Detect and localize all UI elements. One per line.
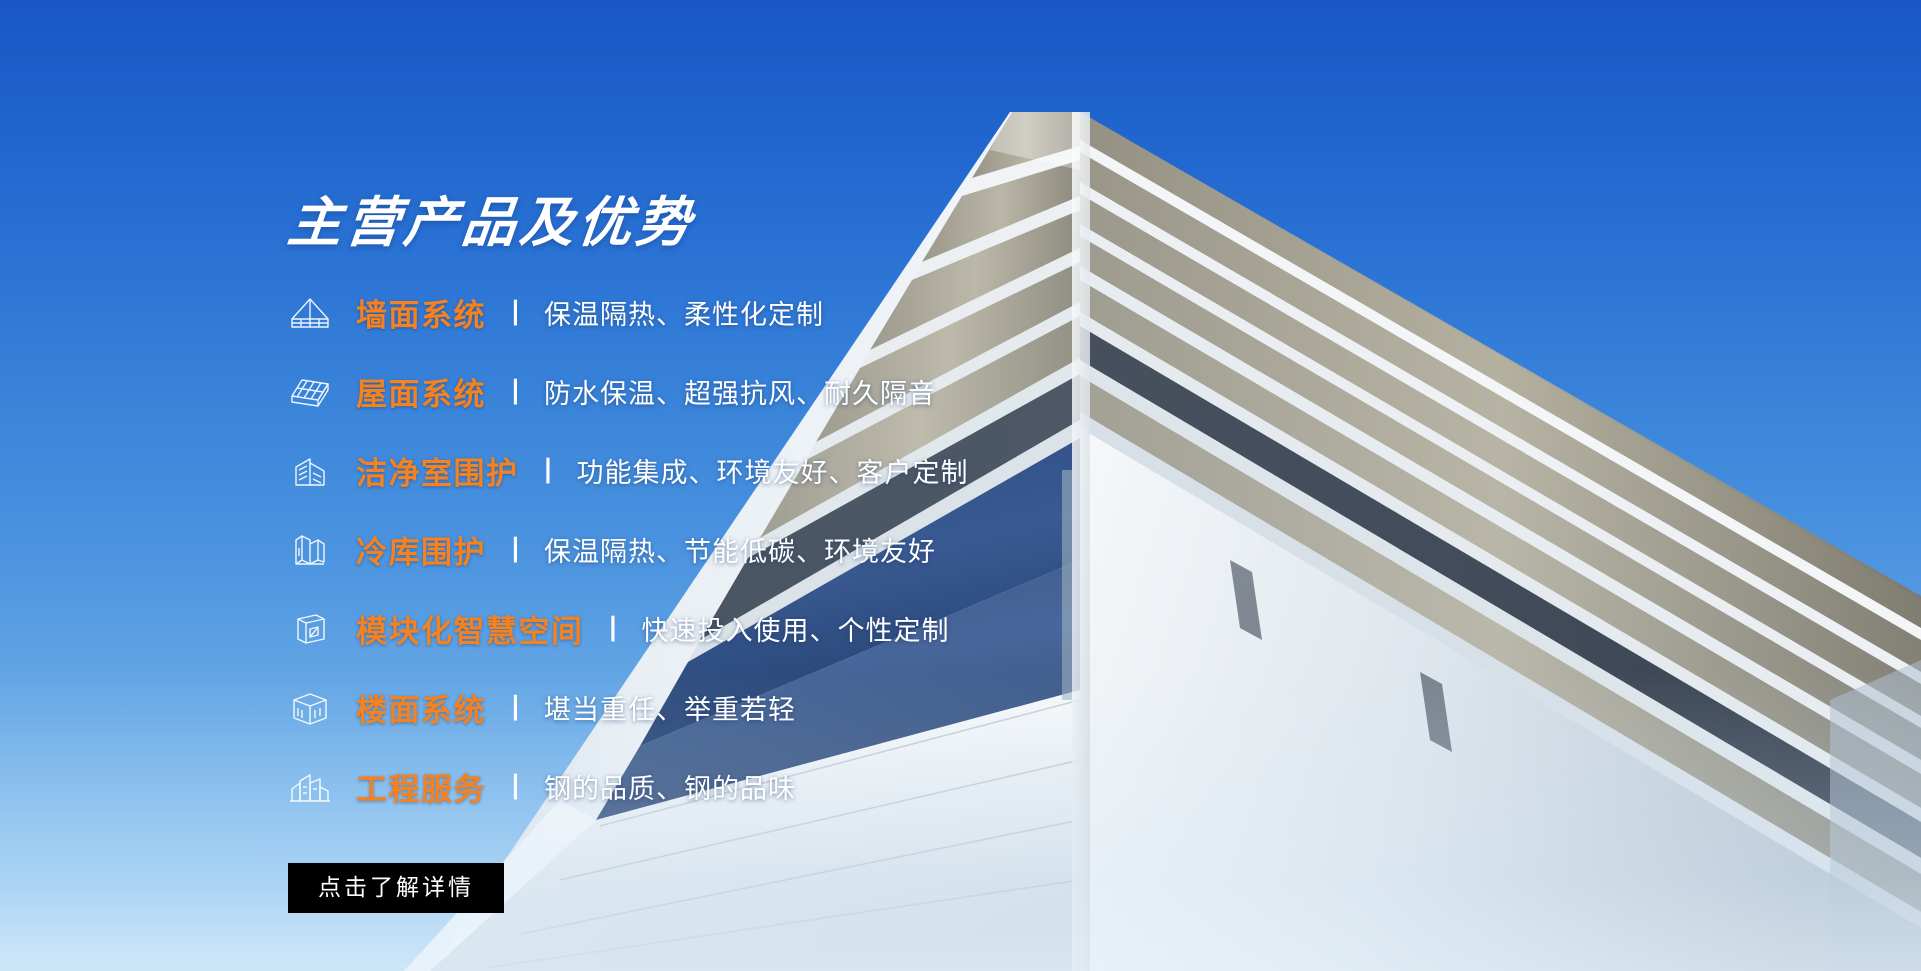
separator-icon: 丨 (535, 450, 562, 489)
separator-icon: 丨 (502, 529, 529, 568)
page-title: 主营产品及优势 (285, 196, 1191, 250)
list-item-title: 楼面系统 (356, 685, 486, 730)
list-item[interactable]: 冷库围护 丨 保温隔热、节能低碳、环境友好 (288, 525, 1188, 574)
hero-content: 主营产品及优势 墙面系统 丨 保温隔热、柔性化定制 (288, 196, 1188, 913)
list-item[interactable]: 墙面系统 丨 保温隔热、柔性化定制 (288, 288, 1188, 337)
list-item-title: 模块化智慧空间 (356, 606, 584, 651)
separator-icon: 丨 (600, 608, 627, 647)
list-item-desc: 防水保温、超强抗风、耐久隔音 (544, 372, 936, 411)
cold-storage-icon (288, 528, 332, 572)
cleanroom-icon (288, 449, 332, 493)
list-item-title: 冷库围护 (356, 527, 486, 572)
list-item-desc: 保温隔热、节能低碳、环境友好 (544, 530, 936, 569)
separator-icon: 丨 (502, 292, 529, 331)
list-item-desc: 钢的品质、钢的品味 (544, 767, 796, 806)
list-item[interactable]: 楼面系统 丨 堪当重任、举重若轻 (288, 683, 1188, 732)
separator-icon: 丨 (502, 371, 529, 410)
modular-space-icon (288, 607, 332, 651)
floor-system-icon (288, 686, 332, 730)
learn-more-button[interactable]: 点击了解详情 (288, 863, 504, 913)
list-item[interactable]: 模块化智慧空间 丨 快速投入使用、个性定制 (288, 604, 1188, 653)
list-item-title: 墙面系统 (356, 290, 486, 335)
separator-icon: 丨 (502, 687, 529, 726)
list-item[interactable]: 洁净室围护 丨 功能集成、环境友好、客户定制 (288, 446, 1188, 495)
hero-banner: 主营产品及优势 墙面系统 丨 保温隔热、柔性化定制 (0, 0, 1921, 971)
list-item-desc: 快速投入使用、个性定制 (642, 609, 950, 648)
list-item[interactable]: 工程服务 丨 钢的品质、钢的品味 (288, 762, 1188, 811)
wall-panel-icon (288, 291, 332, 335)
engineering-icon (288, 765, 332, 809)
list-item-desc: 保温隔热、柔性化定制 (544, 293, 824, 332)
list-item[interactable]: 屋面系统 丨 防水保温、超强抗风、耐久隔音 (288, 367, 1188, 416)
list-item-title: 洁净室围护 (356, 448, 519, 493)
product-list: 墙面系统 丨 保温隔热、柔性化定制 屋面系统 (288, 288, 1188, 811)
separator-icon: 丨 (502, 766, 529, 805)
list-item-title: 屋面系统 (356, 369, 486, 414)
list-item-desc: 功能集成、环境友好、客户定制 (577, 451, 969, 490)
list-item-desc: 堪当重任、举重若轻 (544, 688, 796, 727)
roof-panel-icon (288, 370, 332, 414)
list-item-title: 工程服务 (356, 764, 486, 809)
